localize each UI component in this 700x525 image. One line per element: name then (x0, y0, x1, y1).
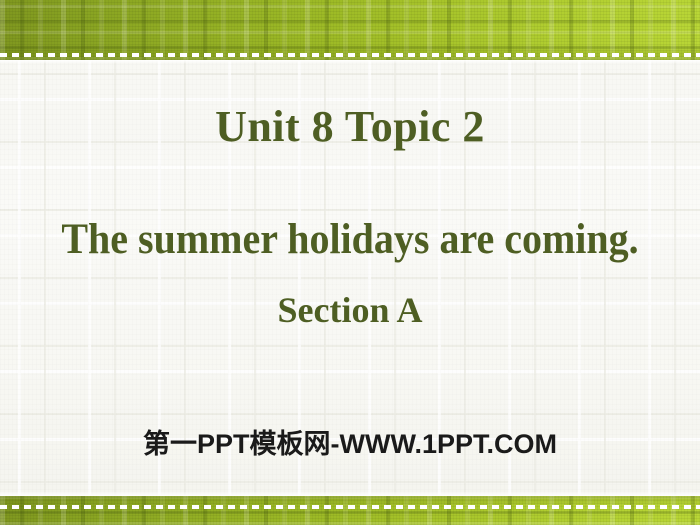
unit-topic-heading: Unit 8 Topic 2 (0, 101, 700, 153)
slide-canvas: Unit 8 Topic 2 The summer holidays are c… (0, 0, 700, 525)
section-subtitle: Section A (0, 289, 700, 331)
lesson-title: The summer holidays are coming. (25, 215, 676, 265)
slide-content: Unit 8 Topic 2 The summer holidays are c… (0, 0, 700, 525)
site-watermark: 第一PPT模板网-WWW.1PPT.COM (0, 427, 700, 461)
